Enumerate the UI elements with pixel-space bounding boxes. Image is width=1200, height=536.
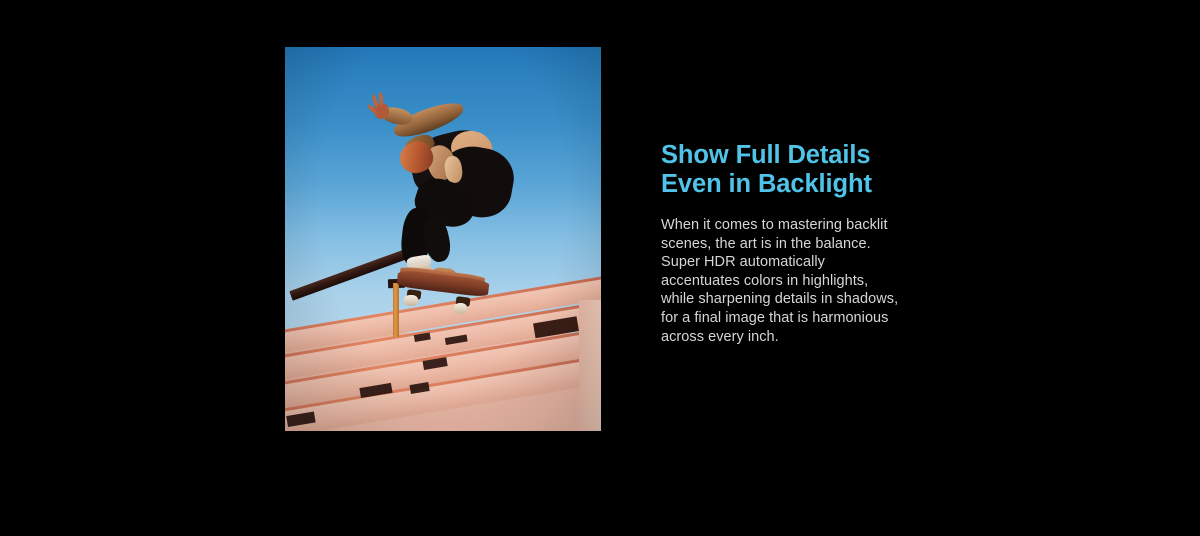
skateboard-wheel (404, 295, 417, 306)
skateboard-wheel (454, 303, 467, 314)
feature-photo (285, 47, 601, 431)
body-line: across every inch. (661, 328, 936, 347)
skater-finger (378, 91, 383, 105)
body-line: Super HDR automatically (661, 253, 936, 272)
skateboarder (285, 47, 601, 431)
body-line: accentuates colors in highlights, (661, 272, 936, 291)
body-line: scenes, the art is in the balance. (661, 235, 936, 254)
photo-canvas (285, 47, 601, 431)
body-copy: When it comes to mastering backlit scene… (661, 216, 936, 346)
feature-text-panel: Show Full Details Even in Backlight When… (661, 141, 936, 346)
body-line: for a final image that is harmonious (661, 309, 936, 328)
headline-line-1: Show Full Details (661, 141, 936, 170)
headline-line-2: Even in Backlight (661, 170, 936, 199)
body-line: while sharpening details in shadows, (661, 290, 936, 309)
page-title: Show Full Details Even in Backlight (661, 141, 936, 199)
body-line: When it comes to mastering backlit (661, 216, 936, 235)
